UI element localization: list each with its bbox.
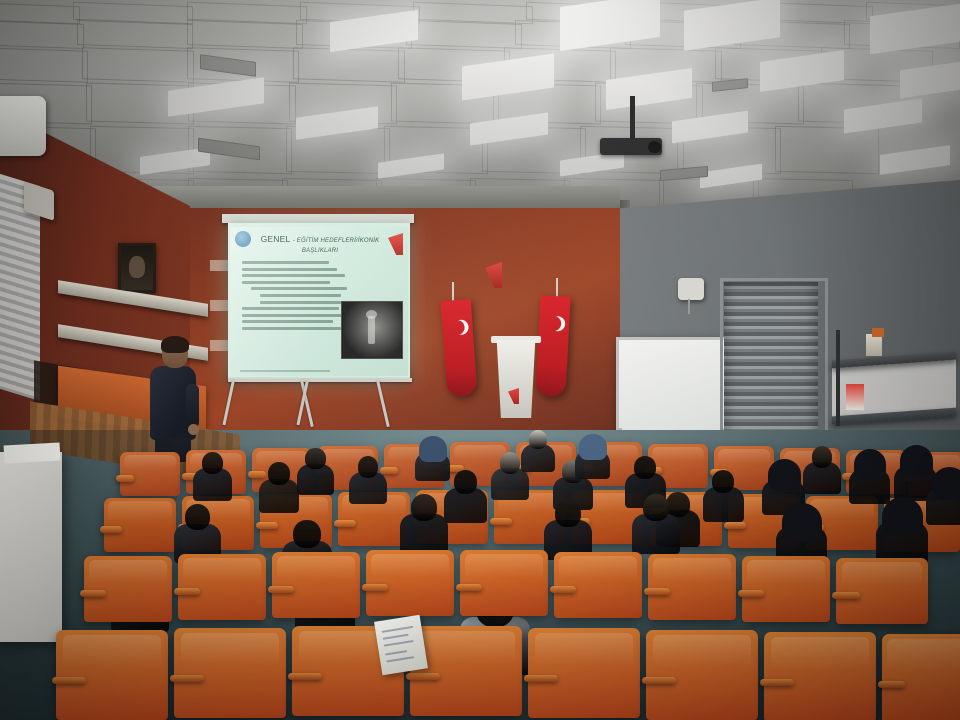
auditorium-chair[interactable] [528,628,640,718]
paper-text-line [384,640,414,647]
chair-armrest [760,679,794,686]
auditorium-chair[interactable] [646,630,758,720]
chair-armrest [170,675,204,682]
chair-armrest [832,592,860,599]
auditorium-chair[interactable] [410,626,522,716]
auditorium-chair[interactable] [56,630,168,720]
classroom-photo: GENEL - EĞİTİM HEDEFLERİ/İKONİK BAŞLIKLA… [0,0,960,720]
seating-rows-front [0,0,960,720]
auditorium-chair[interactable] [764,632,876,720]
auditorium-chair[interactable] [174,628,286,718]
chair-armrest [268,586,294,593]
auditorium-chair[interactable] [882,634,960,720]
chair-armrest [738,590,764,597]
paper-text-line [383,634,409,640]
auditorium-chair[interactable] [84,556,172,622]
chair-armrest [878,681,905,688]
chair-armrest [524,675,558,682]
chair-armrest [362,584,388,591]
chair-armrest [456,584,482,591]
chair-armrest [174,588,200,595]
auditorium-chair[interactable] [554,552,642,618]
auditorium-chair[interactable] [178,554,266,620]
chair-armrest [644,588,670,595]
auditorium-chair[interactable] [836,558,928,624]
chair-armrest [550,586,576,593]
paper-text-line [386,656,414,662]
chair-armrest [80,590,106,597]
auditorium-chair[interactable] [460,550,548,616]
chair-armrest [642,677,676,684]
paper-text-line [382,626,414,633]
auditorium-chair[interactable] [366,550,454,616]
chair-armrest [288,673,322,680]
chair-armrest [406,673,440,680]
auditorium-chair[interactable] [648,554,736,620]
paper-text-line [385,650,407,655]
chair-armrest [52,677,86,684]
auditorium-chair[interactable] [272,552,360,618]
paper-handout [374,615,428,676]
auditorium-chair[interactable] [742,556,830,622]
